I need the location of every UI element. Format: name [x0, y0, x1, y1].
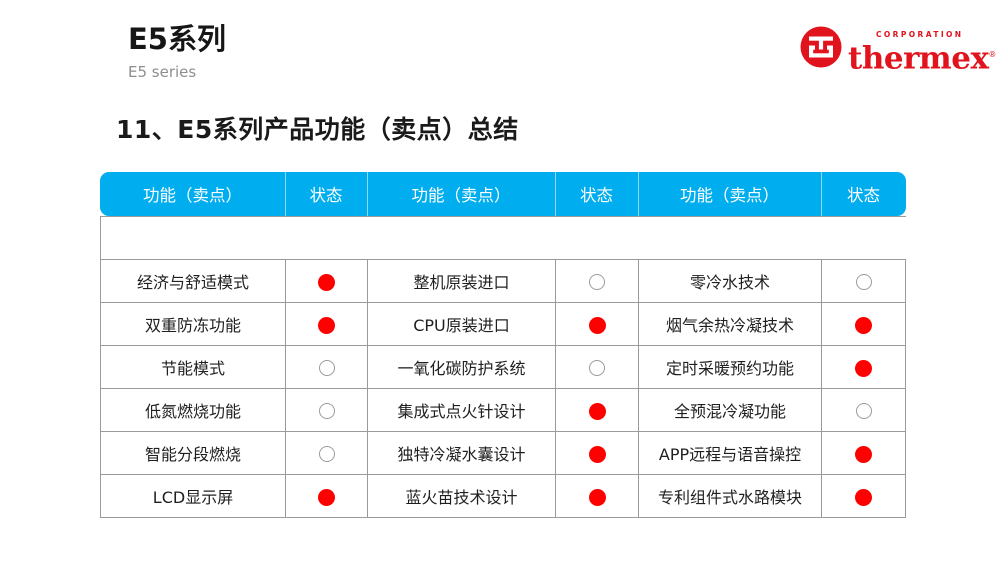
status-cell — [821, 431, 906, 474]
status-filled-icon — [318, 274, 335, 291]
status-cell — [285, 431, 367, 474]
page-subtitle: E5 series — [128, 62, 226, 82]
feature-cell: 全预混冷凝功能 — [638, 388, 821, 431]
status-cell — [285, 388, 367, 431]
feature-cell: 专利组件式水路模块 — [638, 474, 821, 518]
table-row: 低氮燃烧功能集成式点火针设计全预混冷凝功能 — [100, 388, 906, 431]
status-cell — [285, 302, 367, 345]
feature-cell: 智能分段燃烧 — [100, 431, 285, 474]
status-empty-icon — [856, 274, 872, 290]
feature-cell: 独特冷凝水囊设计 — [367, 431, 555, 474]
feature-cell: 蓝火苗技术设计 — [367, 474, 555, 518]
status-cell — [821, 259, 906, 302]
thermex-t-mark-icon — [800, 26, 842, 68]
status-cell — [285, 474, 367, 518]
status-filled-icon — [855, 446, 872, 463]
feature-cell: CPU原装进口 — [367, 302, 555, 345]
feature-cell: 节能模式 — [100, 345, 285, 388]
feature-summary-table: 功能（卖点） 状态 功能（卖点） 状态 功能（卖点） 状态 经济与舒适模式整机原… — [100, 172, 906, 518]
title-block: E5系列 E5 series — [128, 22, 226, 82]
feature-cell: 双重防冻功能 — [100, 302, 285, 345]
column-header-feature-2: 功能（卖点） — [367, 172, 555, 216]
feature-grid: 功能（卖点） 状态 功能（卖点） 状态 功能（卖点） 状态 经济与舒适模式整机原… — [100, 172, 906, 518]
status-empty-icon — [589, 360, 605, 376]
page-title: E5系列 — [128, 22, 226, 56]
column-header-status-1: 状态 — [285, 172, 367, 216]
registered-trademark-icon: ® — [988, 50, 996, 59]
table-row: 经济与舒适模式整机原装进口零冷水技术 — [100, 259, 906, 302]
feature-cell: 集成式点火针设计 — [367, 388, 555, 431]
slide-header: E5系列 E5 series CORPORATION thermex® — [0, 0, 1000, 100]
status-cell — [555, 259, 638, 302]
thermex-wordmark: CORPORATION thermex® — [848, 30, 980, 74]
feature-cell: 烟气余热冷凝技术 — [638, 302, 821, 345]
table-body: 经济与舒适模式整机原装进口零冷水技术双重防冻功能CPU原装进口烟气余热冷凝技术节… — [100, 216, 906, 518]
status-cell — [821, 302, 906, 345]
feature-cell: LCD显示屏 — [100, 474, 285, 518]
feature-cell: 整机原装进口 — [367, 259, 555, 302]
status-empty-icon — [856, 403, 872, 419]
section-heading: 11、E5系列产品功能（卖点）总结 — [116, 110, 519, 146]
feature-cell: 经济与舒适模式 — [100, 259, 285, 302]
feature-cell: 一氧化碳防护系统 — [367, 345, 555, 388]
column-header-feature-1: 功能（卖点） — [100, 172, 285, 216]
status-empty-icon — [319, 403, 335, 419]
status-cell — [821, 345, 906, 388]
status-filled-icon — [318, 317, 335, 334]
table-row: 智能分段燃烧独特冷凝水囊设计APP远程与语音操控 — [100, 431, 906, 474]
status-cell — [821, 388, 906, 431]
status-cell — [555, 345, 638, 388]
status-empty-icon — [589, 274, 605, 290]
status-cell — [285, 259, 367, 302]
spacer-cell — [100, 216, 906, 259]
header-body-gap — [100, 216, 906, 259]
status-cell — [555, 302, 638, 345]
feature-cell: APP远程与语音操控 — [638, 431, 821, 474]
table-row: 节能模式一氧化碳防护系统定时采暖预约功能 — [100, 345, 906, 388]
column-header-feature-3: 功能（卖点） — [638, 172, 821, 216]
table-header-row: 功能（卖点） 状态 功能（卖点） 状态 功能（卖点） 状态 — [100, 172, 906, 216]
status-filled-icon — [589, 317, 606, 334]
feature-cell: 低氮燃烧功能 — [100, 388, 285, 431]
table-head: 功能（卖点） 状态 功能（卖点） 状态 功能（卖点） 状态 — [100, 172, 906, 216]
status-filled-icon — [855, 317, 872, 334]
status-filled-icon — [589, 489, 606, 506]
logo-brand-name: thermex® — [848, 39, 980, 74]
status-cell — [821, 474, 906, 518]
status-cell — [555, 474, 638, 518]
status-cell — [285, 345, 367, 388]
column-header-status-3: 状态 — [821, 172, 906, 216]
status-filled-icon — [855, 489, 872, 506]
status-cell — [555, 388, 638, 431]
feature-cell: 零冷水技术 — [638, 259, 821, 302]
logo-corporation-text: CORPORATION — [848, 30, 980, 39]
thermex-logo: CORPORATION thermex® — [800, 22, 980, 70]
table-row: LCD显示屏蓝火苗技术设计专利组件式水路模块 — [100, 474, 906, 518]
table-row: 双重防冻功能CPU原装进口烟气余热冷凝技术 — [100, 302, 906, 345]
status-empty-icon — [319, 360, 335, 376]
status-filled-icon — [318, 489, 335, 506]
status-cell — [555, 431, 638, 474]
status-filled-icon — [589, 403, 606, 420]
status-filled-icon — [589, 446, 606, 463]
column-header-status-2: 状态 — [555, 172, 638, 216]
status-empty-icon — [319, 446, 335, 462]
status-filled-icon — [855, 360, 872, 377]
logo-brand-text: thermex — [848, 40, 988, 76]
feature-cell: 定时采暖预约功能 — [638, 345, 821, 388]
